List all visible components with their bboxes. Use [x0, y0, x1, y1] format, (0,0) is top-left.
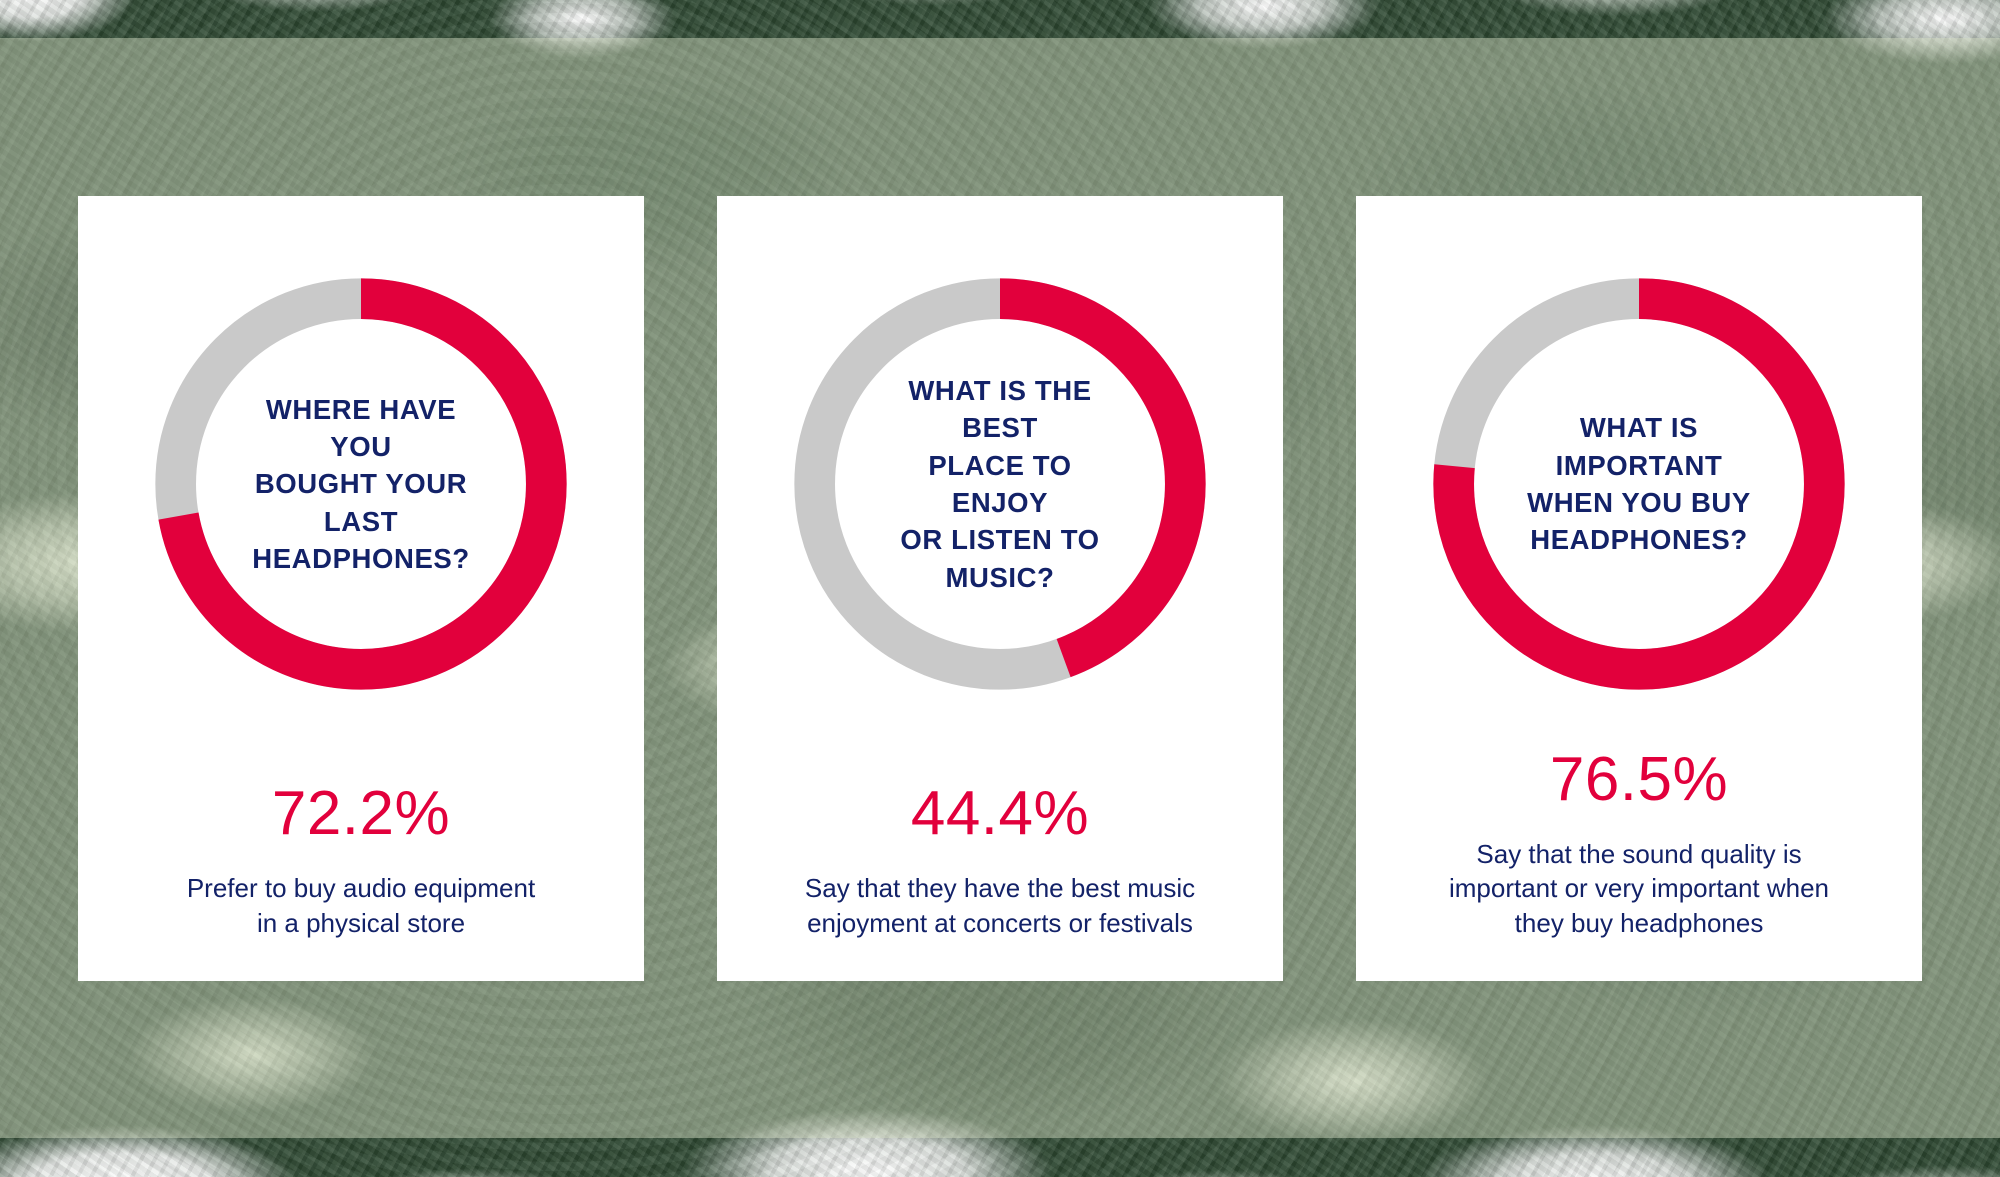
stat-block: 72.2% Prefer to buy audio equipment in a…	[118, 783, 604, 941]
stat-card: WHAT IS THE BEST PLACE TO ENJOY OR LISTE…	[717, 196, 1283, 981]
caption-line: Say that they have the best music	[805, 873, 1195, 903]
caption-line: enjoyment at concerts or festivals	[807, 908, 1193, 938]
donut-center-title: WHERE HAVE YOU BOUGHT YOUR LAST HEADPHON…	[135, 258, 587, 710]
caption-line: important or very important when	[1449, 873, 1829, 903]
donut-center-title: WHAT IS THE BEST PLACE TO ENJOY OR LISTE…	[774, 258, 1226, 710]
donut-chart: WHAT IS IMPORTANT WHEN YOU BUY HEADPHONE…	[1413, 258, 1865, 710]
title-line: WHEN YOU BUY	[1527, 487, 1751, 518]
donut-chart: WHERE HAVE YOU BOUGHT YOUR LAST HEADPHON…	[135, 258, 587, 710]
stat-caption: Prefer to buy audio equipment in a physi…	[118, 871, 604, 941]
caption-line: Prefer to buy audio equipment	[187, 873, 535, 903]
title-line: WHERE HAVE YOU	[266, 394, 456, 462]
stat-block: 76.5% Say that the sound quality is impo…	[1396, 749, 1882, 941]
title-line: HEADPHONES?	[252, 543, 469, 574]
title-line: PLACE TO ENJOY	[928, 450, 1071, 518]
caption-line: Say that the sound quality is	[1476, 839, 1801, 869]
stat-block: 44.4% Say that they have the best music …	[757, 783, 1243, 941]
title-line: WHAT IS IMPORTANT	[1556, 412, 1723, 480]
title-line: HEADPHONES?	[1530, 524, 1747, 555]
stat-card-row: WHERE HAVE YOU BOUGHT YOUR LAST HEADPHON…	[0, 196, 2000, 981]
donut-chart: WHAT IS THE BEST PLACE TO ENJOY OR LISTE…	[774, 258, 1226, 710]
caption-line: they buy headphones	[1515, 908, 1764, 938]
stat-percentage: 72.2%	[118, 783, 604, 845]
stat-card: WHAT IS IMPORTANT WHEN YOU BUY HEADPHONE…	[1356, 196, 1922, 981]
stat-percentage: 76.5%	[1396, 749, 1882, 811]
title-line: BOUGHT YOUR LAST	[255, 468, 467, 536]
stat-percentage: 44.4%	[757, 783, 1243, 845]
donut-center-title: WHAT IS IMPORTANT WHEN YOU BUY HEADPHONE…	[1413, 258, 1865, 710]
stat-caption: Say that the sound quality is important …	[1396, 837, 1882, 941]
title-line: WHAT IS THE BEST	[908, 375, 1091, 443]
caption-line: in a physical store	[257, 908, 465, 938]
infographic-poster: WHERE HAVE YOU BOUGHT YOUR LAST HEADPHON…	[0, 0, 2000, 1177]
stat-card: WHERE HAVE YOU BOUGHT YOUR LAST HEADPHON…	[78, 196, 644, 981]
title-line: OR LISTEN TO MUSIC?	[900, 524, 1099, 592]
stat-caption: Say that they have the best music enjoym…	[757, 871, 1243, 941]
